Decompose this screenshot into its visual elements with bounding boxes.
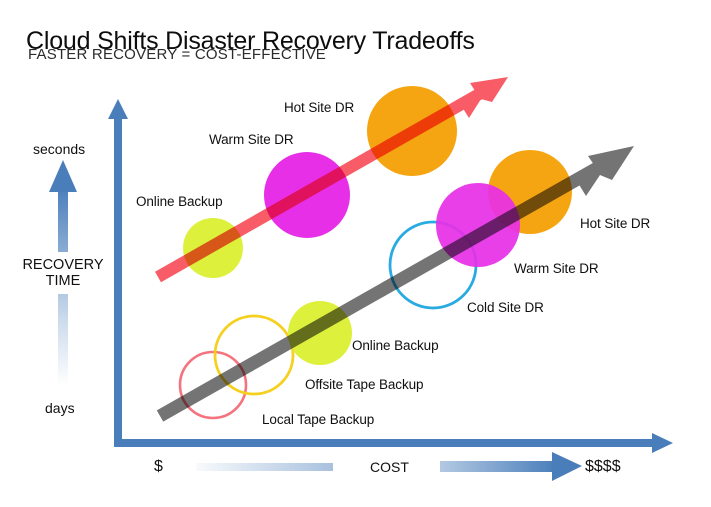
y-axis-arrowhead (108, 99, 128, 119)
label-online-backup-traditional: Online Backup (352, 338, 439, 353)
cost-gradient-bar (196, 463, 333, 471)
label-hot-site-dr-cloud: Hot Site DR (284, 100, 354, 115)
y-axis-top-label: seconds (33, 141, 85, 157)
slide-canvas: Cloud Shifts Disaster Recovery Tradeoffs… (0, 0, 711, 507)
chart-graphic (0, 0, 711, 507)
x-axis-left-label: $ (154, 458, 163, 476)
label-hot-site-dr-traditional: Hot Site DR (580, 216, 650, 231)
label-warm-site-dr-cloud: Warm Site DR (209, 132, 294, 147)
label-offsite-tape-backup: Offsite Tape Backup (305, 377, 423, 392)
label-online-backup-cloud: Online Backup (136, 194, 223, 209)
x-axis-line (114, 439, 659, 447)
cost-gradient-arrow (440, 452, 582, 481)
x-axis-arrowhead (652, 433, 673, 453)
label-cold-site-dr: Cold Site DR (467, 300, 544, 315)
x-axis-right-label: $$$$ (585, 458, 621, 476)
y-axis-line (114, 112, 122, 443)
y-axis-bottom-label: days (45, 400, 75, 416)
label-warm-site-dr-traditional: Warm Site DR (514, 261, 599, 276)
traditional-trendline-arrow (160, 146, 634, 416)
y-axis-title-line1: RECOVERY (22, 257, 103, 273)
y-axis-title-line2: TIME (46, 273, 81, 289)
y-axis-title: RECOVERY TIME (16, 257, 110, 289)
x-axis-title: COST (370, 459, 409, 475)
label-local-tape-backup: Local Tape Backup (262, 412, 374, 427)
